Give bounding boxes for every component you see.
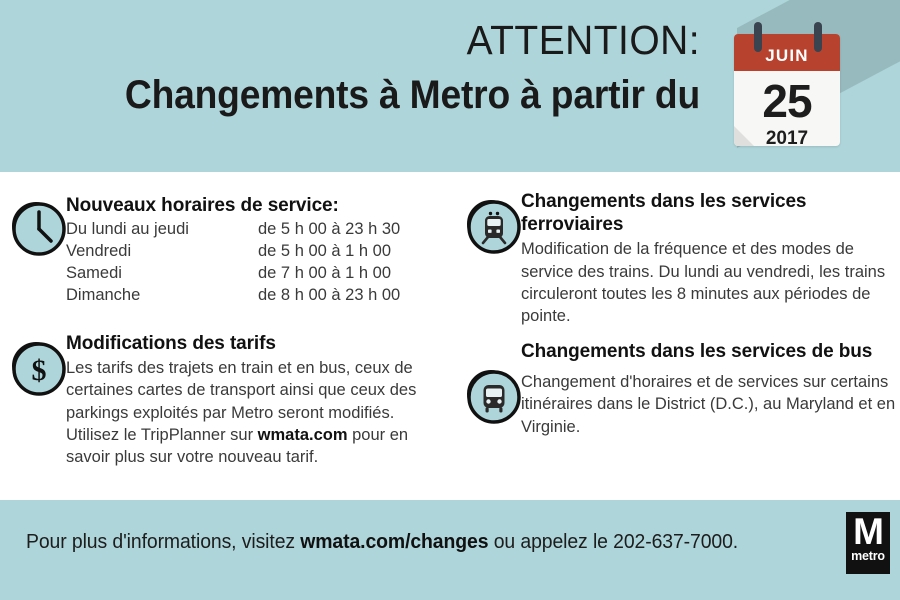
- metro-logo-letter: M: [853, 516, 883, 549]
- header-text-group: ATTENTION: Changements à Metro à partir …: [20, 18, 700, 118]
- page-title: Changements à Metro à partir du: [68, 73, 700, 118]
- right-column: Changements dans les services ferroviair…: [455, 172, 900, 500]
- footer-link[interactable]: wmata.com/changes: [300, 531, 488, 553]
- hours-day: Du lundi au jeudi: [66, 219, 258, 241]
- bus-icon: [467, 370, 515, 418]
- hours-time: de 7 h 00 à 1 h 00: [258, 263, 400, 285]
- footer-text-before: Pour plus d'informations, visitez: [26, 531, 300, 553]
- hours-body: Nouveaux horaires de service: Du lundi a…: [66, 194, 446, 307]
- rail-text: Modification de la fréquence et des mode…: [521, 238, 896, 327]
- header-band: ATTENTION: Changements à Metro à partir …: [0, 0, 900, 172]
- footer-band: Pour plus d'informations, visitez wmata.…: [0, 500, 900, 600]
- table-row: Du lundi au jeudi de 5 h 00 à 23 h 30: [66, 219, 400, 241]
- metro-logo-word: metro: [851, 550, 885, 563]
- hours-day: Vendredi: [66, 241, 258, 263]
- infographic-poster: ATTENTION: Changements à Metro à partir …: [0, 0, 900, 600]
- footer-text: Pour plus d'informations, visitez wmata.…: [26, 531, 738, 554]
- fares-link[interactable]: wmata.com: [258, 426, 348, 444]
- table-row: Samedi de 7 h 00 à 1 h 00: [66, 263, 400, 285]
- calendar-day: 25: [734, 78, 840, 124]
- dollar-icon: $: [12, 342, 60, 390]
- rail-body: Changements dans les services ferroviair…: [521, 190, 896, 327]
- svg-text:$: $: [32, 354, 47, 387]
- hours-day: Samedi: [66, 263, 258, 285]
- clock-icon: [12, 202, 60, 250]
- hours-day: Dimanche: [66, 285, 258, 307]
- attention-heading: ATTENTION:: [54, 18, 700, 63]
- train-icon: [467, 200, 515, 248]
- hours-title: Nouveaux horaires de service:: [66, 194, 446, 217]
- calendar-icon: JUIN 25 2017: [727, 22, 852, 152]
- bus-title: Changements dans les services de bus: [521, 340, 896, 363]
- calendar-ring-right: [814, 22, 822, 52]
- table-row: Dimanche de 8 h 00 à 23 h 00: [66, 285, 400, 307]
- calendar-ring-left: [754, 22, 762, 52]
- metro-logo: M metro: [846, 512, 890, 574]
- fares-text: Les tarifs des trajets en train et en bu…: [66, 357, 426, 468]
- fares-title: Modifications des tarifs: [66, 332, 426, 355]
- hours-time: de 5 h 00 à 23 h 30: [258, 219, 400, 241]
- calendar-body: JUIN 25 2017: [734, 34, 840, 146]
- left-column: Nouveaux horaires de service: Du lundi a…: [0, 172, 450, 500]
- hours-table: Du lundi au jeudi de 5 h 00 à 23 h 30 Ve…: [66, 219, 400, 307]
- rail-title: Changements dans les services ferroviair…: [521, 190, 896, 236]
- footer-text-after: ou appelez le 202-637-7000.: [488, 531, 738, 553]
- hours-table-body: Du lundi au jeudi de 5 h 00 à 23 h 30 Ve…: [66, 219, 400, 307]
- bus-text: Changement d'horaires et de services sur…: [521, 371, 896, 438]
- table-row: Vendredi de 5 h 00 à 1 h 00: [66, 241, 400, 263]
- calendar-month: JUIN: [734, 34, 840, 71]
- hours-time: de 8 h 00 à 23 h 00: [258, 285, 400, 307]
- content-area: Nouveaux horaires de service: Du lundi a…: [0, 172, 900, 500]
- hours-time: de 5 h 00 à 1 h 00: [258, 241, 400, 263]
- fares-body: Modifications des tarifs Les tarifs des …: [66, 332, 426, 469]
- bus-body: Changements dans les services de bus Cha…: [521, 340, 896, 438]
